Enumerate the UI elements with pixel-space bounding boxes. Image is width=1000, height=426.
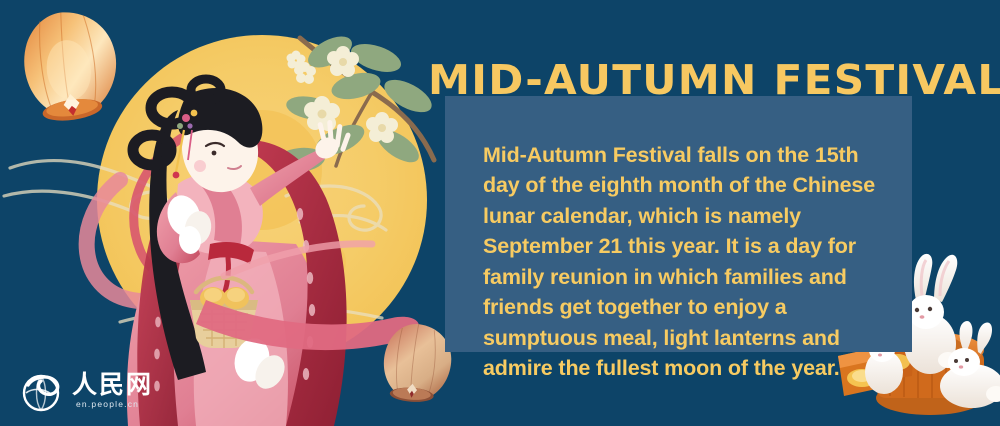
logo-url: en.people.cn <box>76 399 139 409</box>
globe-swoosh-icon <box>20 372 64 412</box>
description-panel: Mid-Autumn Festival falls on the 15th da… <box>445 96 912 352</box>
page-title: MID-AUTUMN FESTIVAL <box>428 56 984 104</box>
body-text: Mid-Autumn Festival falls on the 15th da… <box>483 140 888 384</box>
people-daily-logo[interactable]: 人民网 en.people.cn <box>20 371 170 413</box>
mid-autumn-festival-banner: Mid-Autumn Festival falls on the 15th da… <box>0 0 1000 426</box>
logo-chinese-name: 人民网 <box>72 371 153 399</box>
